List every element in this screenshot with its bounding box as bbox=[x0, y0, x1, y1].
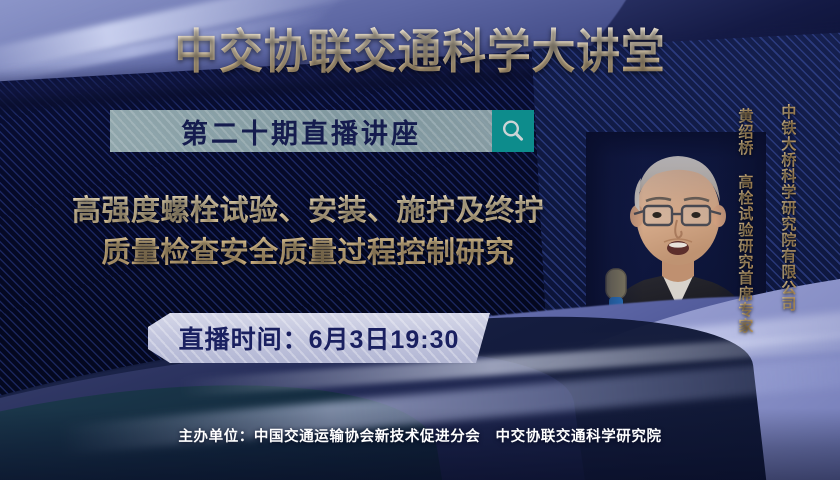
lecture-topic-line-2: 质量检查安全质量过程控制研究 bbox=[8, 232, 608, 274]
speaker-name-title: 黄绍桥 高栓试验研究首席专家 bbox=[736, 108, 753, 348]
live-lecture-poster: 中交协联交通科学大讲堂 第二十期直播讲座 高强度螺栓试验、安装、施拧及终拧 质量… bbox=[0, 0, 840, 480]
search-button[interactable] bbox=[492, 110, 534, 152]
broadcast-time-text: 直播时间：6月3日19:30 bbox=[179, 320, 460, 356]
page-title: 中交协联交通科学大讲堂 bbox=[29, 24, 810, 80]
lecture-topic: 高强度螺栓试验、安装、施拧及终拧 质量检查安全质量过程控制研究 bbox=[8, 190, 608, 274]
broadcast-time-badge: 直播时间：6月3日19:30 bbox=[148, 313, 490, 363]
search-icon bbox=[500, 118, 526, 144]
speaker-organization: 中铁大桥科学研究院有限公司 bbox=[779, 104, 796, 324]
lecture-topic-line-1: 高强度螺栓试验、安装、施拧及终拧 bbox=[8, 190, 608, 232]
organizers-footer: 主办单位：中国交通运输协会新技术促进分会 中交协联交通科学研究院 bbox=[0, 425, 840, 446]
subtitle-text: 第二十期直播讲座 bbox=[110, 110, 492, 152]
